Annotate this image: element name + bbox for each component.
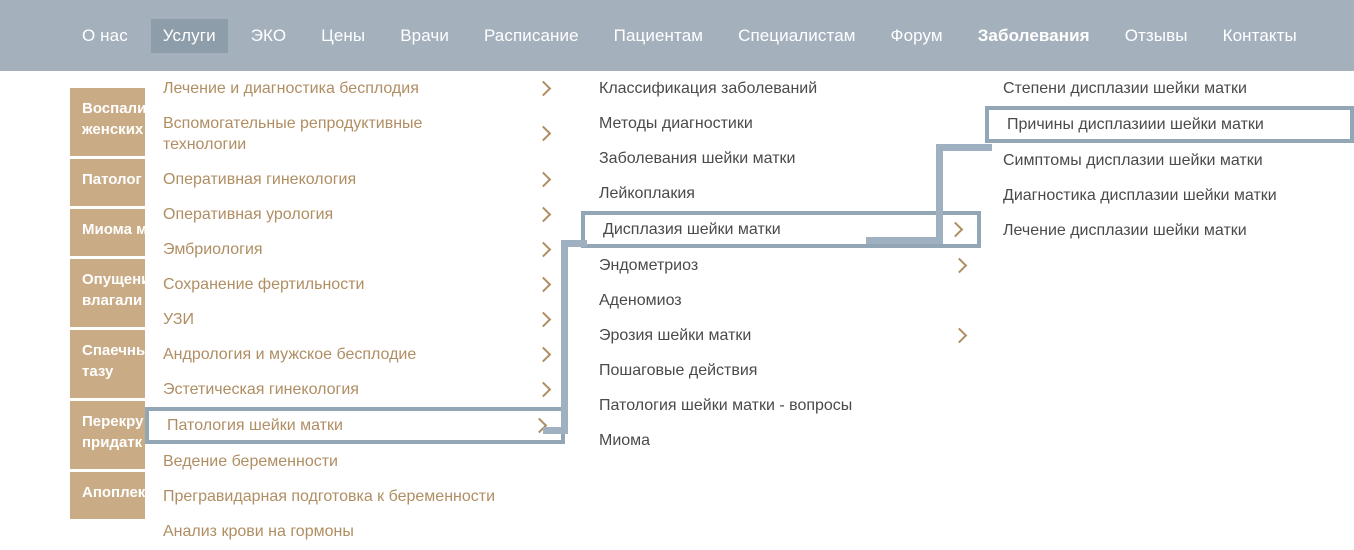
menu-item-column2-0[interactable]: Классификация заболеваний [581, 71, 981, 106]
chevron-right-icon [536, 276, 552, 292]
disease-tile-5[interactable]: Перекру придатк [70, 401, 150, 469]
menu-item-column3-2[interactable]: Симптомы дисплазии шейки матки [985, 143, 1354, 178]
nav-item-1[interactable]: Услуги [151, 19, 228, 53]
menu-item-label: Симптомы дисплазии шейки матки [1003, 152, 1263, 169]
menu-item-column2-4[interactable]: Дисплазия шейки матки [581, 211, 981, 248]
menu-item-label: Методы диагностики [599, 115, 753, 132]
menu-item-column3-4[interactable]: Лечение дисплазии шейки матки [985, 213, 1354, 248]
nav-item-9[interactable]: Заболевания [966, 19, 1102, 53]
menu-item-label: Андрология и мужское бесплодие [163, 346, 416, 363]
menu-item-label: Оперативная гинекология [163, 171, 356, 188]
nav-item-5[interactable]: Расписание [472, 19, 591, 53]
chevron-right-icon [536, 241, 552, 257]
menu-item-label: Патология шейки матки - вопросы [599, 397, 852, 414]
disease-tile-4[interactable]: Спаечны тазу [70, 330, 150, 398]
nav-item-4[interactable]: Врачи [388, 19, 461, 53]
menu-item-column1-4[interactable]: Эмбриология [145, 232, 565, 267]
menu-item-label: Диагностика дисплазии шейки матки [1003, 187, 1277, 204]
menu-item-label: Дисплазия шейки матки [603, 221, 781, 238]
nav-item-11[interactable]: Контакты [1211, 19, 1309, 53]
chevron-right-icon [952, 257, 968, 273]
menu-item-column2-10[interactable]: Миома [581, 423, 981, 458]
menu-item-label: Эндометриоз [599, 257, 698, 274]
nav-item-2[interactable]: ЭКО [239, 19, 298, 53]
menu-item-column1-3[interactable]: Оперативная урология [145, 197, 565, 232]
menu-column-cervix-pathology: Классификация заболеванийМетоды диагност… [581, 71, 981, 458]
menu-item-column2-2[interactable]: Заболевания шейки матки [581, 141, 981, 176]
menu-item-column1-7[interactable]: Андрология и мужское бесплодие [145, 337, 565, 372]
menu-item-column1-9[interactable]: Патология шейки матки [145, 407, 565, 444]
menu-item-label: Лечение дисплазии шейки матки [1003, 222, 1247, 239]
chevron-right-icon [536, 311, 552, 327]
menu-item-column2-7[interactable]: Эрозия шейки матки [581, 318, 981, 353]
nav-item-list: О насУслугиЭКОЦеныВрачиРасписаниеПациент… [70, 0, 1320, 71]
menu-item-label: Прегравидарная подготовка к беременности [163, 488, 495, 505]
menu-item-column3-1[interactable]: Причины дисплазиии шейки матки [985, 106, 1354, 143]
menu-item-label: Эмбриология [163, 241, 263, 258]
disease-tile-1[interactable]: Патолог [70, 159, 150, 206]
menu-item-label: Эстетическая гинекология [163, 381, 359, 398]
disease-tile-0[interactable]: Воспали женских [70, 88, 150, 156]
chevron-right-icon [536, 126, 552, 142]
menu-item-label: УЗИ [163, 311, 194, 328]
menu-item-column2-1[interactable]: Методы диагностики [581, 106, 981, 141]
menu-item-label: Ведение беременности [163, 453, 338, 470]
menu-item-column1-0[interactable]: Лечение и диагностика бесплодия [145, 71, 565, 106]
menu-item-label: Патология шейки матки [167, 417, 343, 434]
menu-item-column1-10[interactable]: Ведение беременности [145, 444, 565, 479]
disease-tile-6[interactable]: Апоплек [70, 472, 150, 519]
chevron-right-icon [536, 80, 552, 96]
menu-item-column1-11[interactable]: Прегравидарная подготовка к беременности [145, 479, 565, 514]
menu-item-label: Миома [599, 432, 650, 449]
menu-item-label: Вспомогательные репродуктивные технологи… [163, 115, 422, 153]
menu-item-column2-8[interactable]: Пошаговые действия [581, 353, 981, 388]
menu-item-label: Заболевания шейки матки [599, 150, 795, 167]
menu-item-label: Степени дисплазии шейки матки [1003, 80, 1247, 97]
nav-item-3[interactable]: Цены [309, 19, 377, 53]
chevron-right-icon [536, 346, 552, 362]
page-root: О насУслугиЭКОЦеныВрачиРасписаниеПациент… [0, 0, 1354, 550]
nav-item-8[interactable]: Форум [879, 19, 955, 53]
menu-item-column1-1[interactable]: Вспомогательные репродуктивные технологи… [145, 106, 565, 162]
chevron-right-icon [532, 417, 548, 433]
menu-item-label: Причины дисплазиии шейки матки [1007, 116, 1264, 133]
menu-item-label: Аденомиоз [599, 292, 682, 309]
menu-item-column1-6[interactable]: УЗИ [145, 302, 565, 337]
disease-tile-strip: Воспали женскихПатологМиома мОпущени вла… [70, 88, 150, 522]
disease-tile-3[interactable]: Опущени влагали [70, 259, 150, 327]
nav-item-0[interactable]: О нас [70, 19, 140, 53]
chevron-right-icon [536, 381, 552, 397]
main-navigation-bar: О насУслугиЭКОЦеныВрачиРасписаниеПациент… [0, 0, 1354, 71]
menu-item-column1-2[interactable]: Оперативная гинекология [145, 162, 565, 197]
services-mega-dropdown: Лечение и диагностика бесплодияВспомогат… [145, 71, 1354, 550]
chevron-right-icon [948, 221, 964, 237]
menu-item-label: Сохранение фертильности [163, 276, 364, 293]
menu-item-label: Оперативная урология [163, 206, 333, 223]
menu-item-column1-12[interactable]: Анализ крови на гормоны [145, 514, 565, 549]
menu-item-label: Лейкоплакия [599, 185, 695, 202]
menu-item-column2-5[interactable]: Эндометриоз [581, 248, 981, 283]
chevron-right-icon [536, 206, 552, 222]
menu-item-column3-3[interactable]: Диагностика дисплазии шейки матки [985, 178, 1354, 213]
menu-item-label: Пошаговые действия [599, 362, 757, 379]
menu-item-label: Классификация заболеваний [599, 80, 817, 97]
menu-item-column1-8[interactable]: Эстетическая гинекология [145, 372, 565, 407]
menu-item-column2-6[interactable]: Аденомиоз [581, 283, 981, 318]
menu-column-dysplasia: Степени дисплазии шейки маткиПричины дис… [985, 71, 1354, 248]
nav-item-6[interactable]: Пациентам [602, 19, 715, 53]
menu-item-label: Лечение и диагностика бесплодия [163, 80, 419, 97]
disease-tile-2[interactable]: Миома м [70, 209, 150, 256]
nav-item-7[interactable]: Специалистам [726, 19, 867, 53]
menu-item-column1-5[interactable]: Сохранение фертильности [145, 267, 565, 302]
chevron-right-icon [536, 171, 552, 187]
menu-item-column3-0[interactable]: Степени дисплазии шейки матки [985, 71, 1354, 106]
menu-item-label: Эрозия шейки матки [599, 327, 751, 344]
menu-column-services: Лечение и диагностика бесплодияВспомогат… [145, 71, 565, 549]
menu-item-column2-9[interactable]: Патология шейки матки - вопросы [581, 388, 981, 423]
chevron-right-icon [952, 327, 968, 343]
menu-item-column2-3[interactable]: Лейкоплакия [581, 176, 981, 211]
menu-item-label: Анализ крови на гормоны [163, 523, 354, 540]
nav-item-10[interactable]: Отзывы [1113, 19, 1200, 53]
